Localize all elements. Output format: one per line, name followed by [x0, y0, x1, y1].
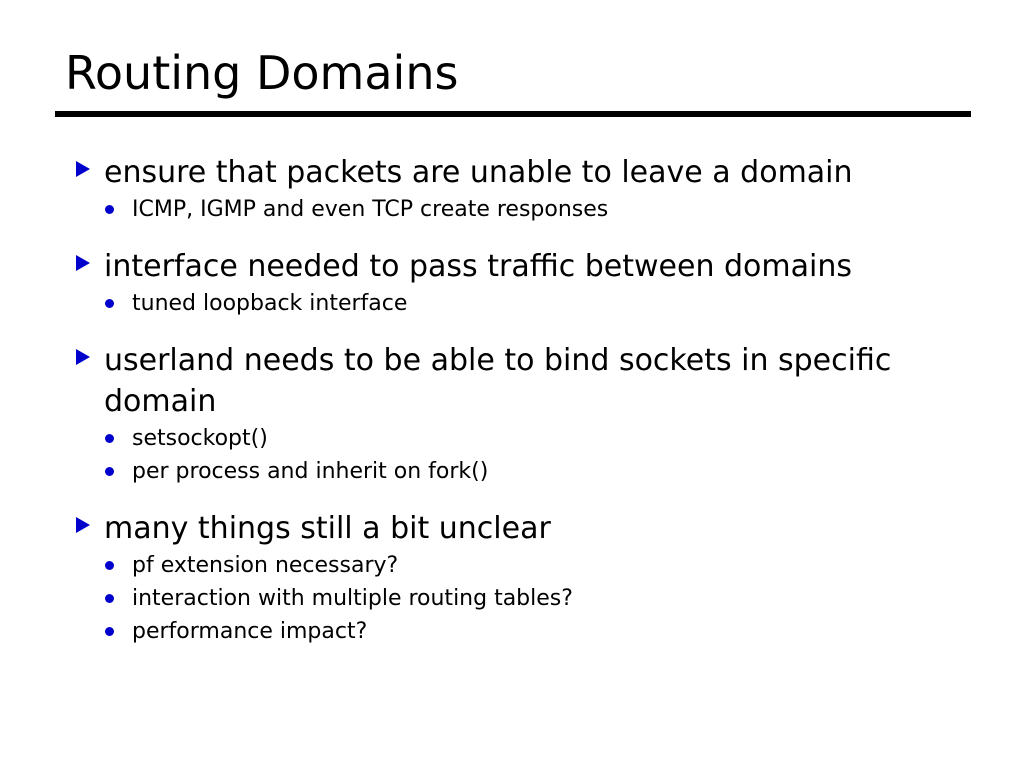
triangle-bullet-icon: [60, 508, 90, 533]
page-title: Routing Domains: [55, 45, 975, 101]
dot-bullet-icon: [60, 193, 122, 214]
dot-bullet-icon: [60, 422, 122, 443]
bullet-text-level2: pf extension necessary?: [122, 549, 1000, 582]
bullet-item-level2: performance impact?: [60, 615, 1000, 648]
bullet-group: many things still a bit unclear pf exten…: [60, 508, 1000, 648]
dot-bullet-icon: [60, 455, 122, 476]
slide-title-block: Routing Domains: [55, 45, 975, 101]
bullet-item-level2: ICMP, IGMP and even TCP create responses: [60, 193, 1000, 226]
triangle-bullet-icon: [60, 152, 90, 177]
bullet-item-level2: interaction with multiple routing tables…: [60, 582, 1000, 615]
sub-bullet-list: tuned loopback interface: [60, 287, 1000, 320]
sub-bullet-list: pf extension necessary? interaction with…: [60, 549, 1000, 648]
dot-bullet-icon: [60, 582, 122, 603]
title-underline-rule: [55, 111, 971, 117]
bullet-text-level2: tuned loopback interface: [122, 287, 1000, 320]
triangle-bullet-icon: [60, 246, 90, 271]
bullet-item-level1: interface needed to pass traffic between…: [60, 246, 1000, 287]
bullet-item-level2: pf extension necessary?: [60, 549, 1000, 582]
bullet-item-level2: per process and inherit on fork(): [60, 455, 1000, 488]
bullet-text-level2: interaction with multiple routing tables…: [122, 582, 1000, 615]
bullet-text-level2: setsockopt(): [122, 422, 1000, 455]
sub-bullet-list: setsockopt() per process and inherit on …: [60, 422, 1000, 488]
bullet-item-level1: ensure that packets are unable to leave …: [60, 152, 1000, 193]
bullet-group: ensure that packets are unable to leave …: [60, 152, 1000, 226]
bullet-item-level1: userland needs to be able to bind socket…: [60, 340, 1000, 422]
bullet-text-level1: ensure that packets are unable to leave …: [90, 152, 949, 193]
bullet-text-level1: userland needs to be able to bind socket…: [90, 340, 949, 422]
presentation-slide: Routing Domains ensure that packets are …: [0, 0, 1024, 768]
bullet-text-level1: interface needed to pass traffic between…: [90, 246, 949, 287]
bullet-item-level2: tuned loopback interface: [60, 287, 1000, 320]
bullet-item-level2: setsockopt(): [60, 422, 1000, 455]
bullet-group: interface needed to pass traffic between…: [60, 246, 1000, 320]
bullet-group: userland needs to be able to bind socket…: [60, 340, 1000, 488]
dot-bullet-icon: [60, 287, 122, 308]
dot-bullet-icon: [60, 549, 122, 570]
bullet-text-level2: ICMP, IGMP and even TCP create responses: [122, 193, 1000, 226]
triangle-bullet-icon: [60, 340, 90, 365]
slide-body: ensure that packets are unable to leave …: [60, 152, 1000, 648]
bullet-item-level1: many things still a bit unclear: [60, 508, 1000, 549]
bullet-text-level1: many things still a bit unclear: [90, 508, 949, 549]
bullet-text-level2: per process and inherit on fork(): [122, 455, 1000, 488]
dot-bullet-icon: [60, 615, 122, 636]
sub-bullet-list: ICMP, IGMP and even TCP create responses: [60, 193, 1000, 226]
bullet-text-level2: performance impact?: [122, 615, 1000, 648]
